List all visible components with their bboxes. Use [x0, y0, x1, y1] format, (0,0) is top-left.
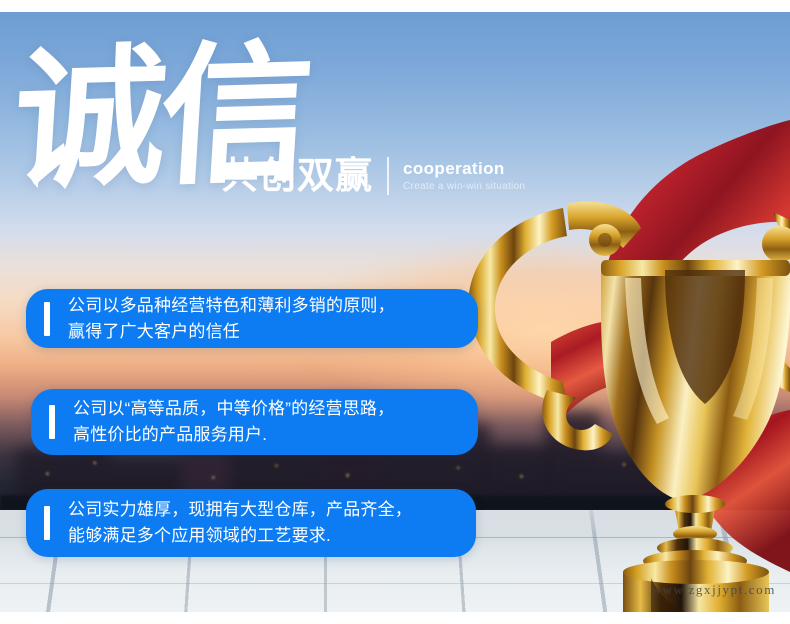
accent-bar-icon — [44, 302, 50, 336]
slogan-block: 共创双赢 cooperation Create a win-win situat… — [221, 155, 525, 197]
accent-bar-icon — [49, 405, 55, 439]
slogan-english-block: cooperation Create a win-win situation — [403, 159, 525, 193]
slogan-chinese: 共创双赢 — [221, 155, 373, 197]
accent-bar-icon — [44, 506, 50, 540]
feature-text-1: 公司以多品种经营特色和薄利多销的原则， 赢得了广大客户的信任 — [68, 293, 409, 345]
promo-banner: 诚信 共创双赢 cooperation Create a win-win sit… — [0, 0, 790, 624]
feature-text-2: 公司以“高等品质，中等价格”的经营思路， 高性价比的产品服务用户. — [73, 396, 408, 448]
feature-pill-3: 公司实力雄厚，现拥有大型仓库，产品齐全， 能够满足多个应用领域的工艺要求. — [26, 489, 476, 557]
banner-artwork: 诚信 共创双赢 cooperation Create a win-win sit… — [0, 12, 790, 612]
slogan-english-main: cooperation — [403, 159, 525, 178]
site-watermark: www.zgxjjypt.com — [652, 582, 776, 598]
feature-text-3: 公司实力雄厚，现拥有大型仓库，产品齐全， 能够满足多个应用领域的工艺要求. — [68, 497, 426, 549]
slogan-english-sub: Create a win-win situation — [403, 181, 525, 193]
feature-pill-2: 公司以“高等品质，中等价格”的经营思路， 高性价比的产品服务用户. — [31, 389, 478, 455]
feature-pill-1: 公司以多品种经营特色和薄利多销的原则， 赢得了广大客户的信任 — [26, 289, 478, 348]
slogan-divider — [387, 157, 389, 195]
